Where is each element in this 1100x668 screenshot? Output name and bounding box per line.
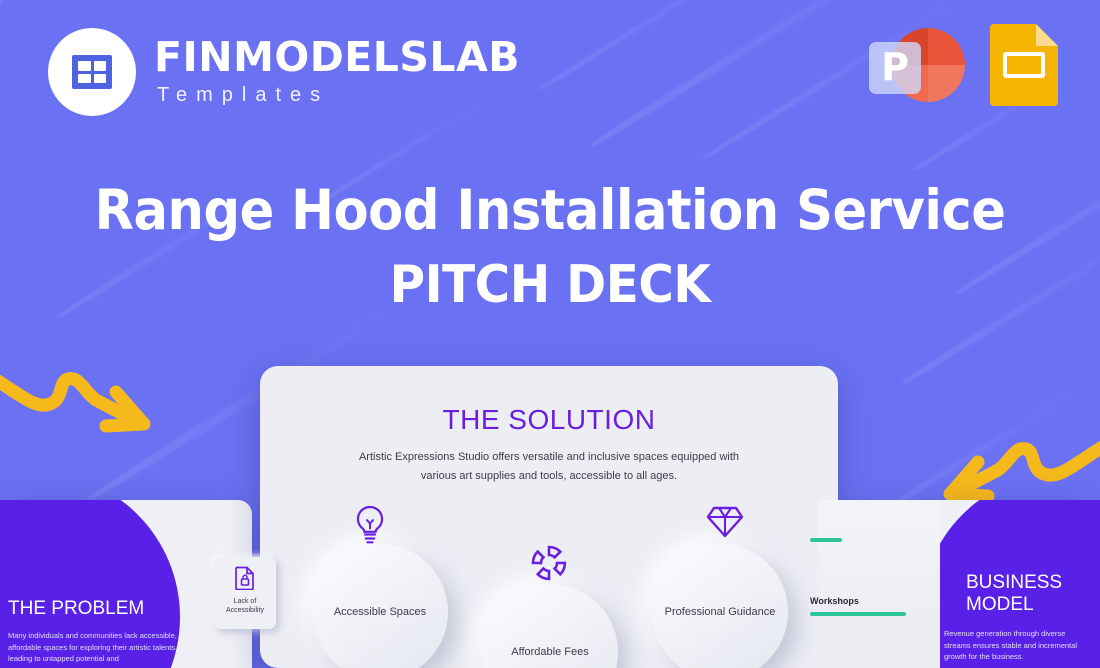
page-subtitle: PITCH DECK [39, 255, 1062, 315]
diamond-icon [706, 504, 744, 540]
business-chart: Workshops [810, 538, 928, 616]
solution-feature-affordable-fees[interactable]: Affordable Fees [482, 584, 618, 668]
chart-bar [810, 538, 842, 542]
squiggly-arrow-right-icon [0, 348, 178, 458]
solution-feature-label: Affordable Fees [511, 645, 588, 660]
solution-feature-label: Professional Guidance [665, 605, 776, 620]
brush-stroke [538, 0, 761, 92]
grid-icon [72, 55, 112, 89]
solution-feature-accessible-spaces[interactable]: Accessible Spaces [312, 544, 448, 668]
problem-feature-label: Lack of Accessibility [214, 597, 276, 615]
lifebuoy-icon [530, 544, 568, 582]
solution-feature-label: Accessible Spaces [334, 605, 426, 620]
lightbulb-icon [352, 504, 388, 546]
powerpoint-letter-tile: P [869, 42, 921, 94]
solution-feature-professional-guidance[interactable]: Professional Guidance [652, 544, 788, 668]
business-body: Revenue generation through diverse strea… [944, 628, 1092, 663]
format-badges: P [869, 20, 1058, 110]
chart-bar [810, 612, 906, 616]
page-title: Range Hood Installation Service [39, 178, 1062, 242]
solution-title: THE SOLUTION [260, 404, 838, 436]
business-title: BUSINESS MODEL [966, 572, 1086, 617]
powerpoint-icon[interactable]: P [869, 20, 974, 110]
problem-feature-card[interactable]: Lack of Accessibility [214, 557, 276, 629]
google-slides-icon[interactable] [990, 24, 1058, 106]
brand-tagline: Templates [154, 84, 520, 107]
brand-logo[interactable]: FINMODELSLAB Templates [48, 28, 520, 116]
logo-badge [48, 28, 136, 116]
brand-text: FINMODELSLAB Templates [154, 37, 520, 107]
solution-description: Artistic Expressions Studio offers versa… [349, 448, 749, 487]
chart-label: Workshops [810, 596, 928, 606]
slides-screen-shape [1003, 52, 1045, 78]
problem-title: THE PROBLEM [8, 598, 144, 620]
document-lock-icon [234, 566, 256, 590]
problem-body: Many individuals and communities lack ac… [8, 630, 194, 665]
brand-name: FINMODELSLAB [154, 37, 520, 78]
powerpoint-letter: P [881, 48, 909, 86]
slide-card-solution[interactable]: THE SOLUTION Artistic Expressions Studio… [260, 366, 838, 668]
